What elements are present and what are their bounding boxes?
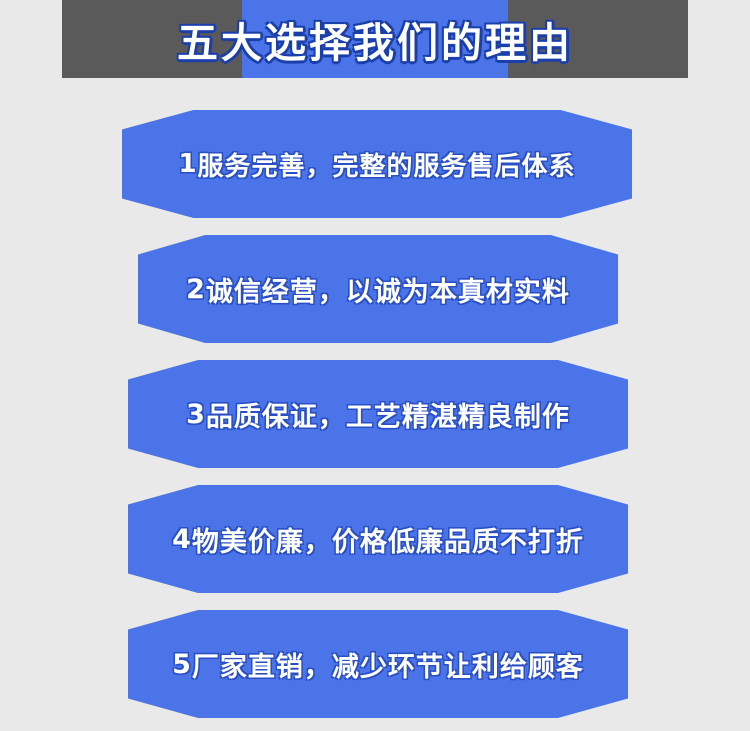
reason-banner-2: 2 诚信经营，以诚为本真材实料 xyxy=(138,235,618,343)
reason-text-5: 厂家直销，减少环节让利给顾客 xyxy=(192,645,584,684)
reason-text-4: 物美价廉，价格低廉品质不打折 xyxy=(192,520,584,559)
list-item: 2 诚信经营，以诚为本真材实料 xyxy=(0,229,750,349)
reason-number-2: 2 xyxy=(186,274,206,305)
header-right-margin xyxy=(688,0,750,78)
reason-text-2: 诚信经营，以诚为本真材实料 xyxy=(206,270,570,309)
page-title: 五大选择我们的理由 xyxy=(177,9,573,69)
reason-banner-3: 3 品质保证，工艺精湛精良制作 xyxy=(128,360,628,468)
reason-number-1: 1 xyxy=(178,149,197,179)
reason-number-4: 4 xyxy=(172,524,192,555)
reasons-list: 1 服务完善，完整的服务售后体系 2 诚信经营，以诚为本真材实料 3 品质保证，… xyxy=(0,78,750,731)
reason-number-5: 5 xyxy=(172,649,192,680)
reason-number-3: 3 xyxy=(186,399,206,430)
promo-poster: 五大选择我们的理由 1 服务完善，完整的服务售后体系 2 诚信经营，以诚为本真材… xyxy=(0,0,750,731)
list-item: 4 物美价廉，价格低廉品质不打折 xyxy=(0,479,750,599)
reason-text-1: 服务完善，完整的服务售后体系 xyxy=(198,146,576,183)
reason-text-3: 品质保证，工艺精湛精良制作 xyxy=(206,395,570,434)
reason-banner-1: 1 服务完善，完整的服务售后体系 xyxy=(122,110,632,218)
list-item: 5 厂家直销，减少环节让利给顾客 xyxy=(0,604,750,724)
header-left-margin xyxy=(0,0,62,78)
poster-header: 五大选择我们的理由 xyxy=(0,0,750,78)
list-item: 1 服务完善，完整的服务售后体系 xyxy=(0,104,750,224)
reason-banner-5: 5 厂家直销，减少环节让利给顾客 xyxy=(128,610,628,718)
list-item: 3 品质保证，工艺精湛精良制作 xyxy=(0,354,750,474)
reason-banner-4: 4 物美价廉，价格低廉品质不打折 xyxy=(128,485,628,593)
